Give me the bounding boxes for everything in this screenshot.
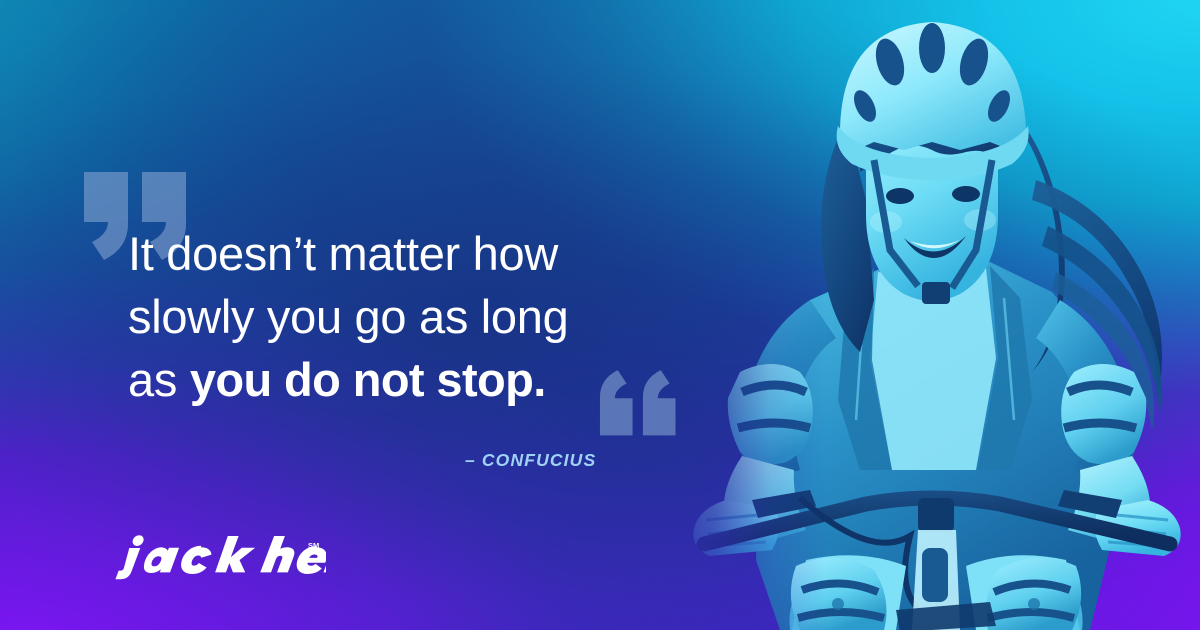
- service-mark-text: SM: [308, 541, 319, 550]
- quote-attribution: – CONFUCIUS: [465, 450, 596, 471]
- quote-text: It doesn’t matter how slowly you go as l…: [128, 222, 728, 411]
- quote-line-2: slowly you go as long: [128, 285, 728, 348]
- quote-line-1: It doesn’t matter how: [128, 222, 728, 285]
- jack-henry-logo[interactable]: SM: [104, 534, 326, 582]
- quote-line-3-text: as: [128, 353, 190, 406]
- quote-line-1-text: It doesn’t matter how: [128, 227, 558, 280]
- quote-line-3: as you do not stop.: [128, 348, 728, 411]
- quote-emphasis: you do not stop.: [190, 353, 546, 406]
- quote-line-2-text: slowly you go as long: [128, 290, 568, 343]
- child-cyclist-photo: [660, 0, 1200, 630]
- quote-card: It doesn’t matter how slowly you go as l…: [0, 0, 1200, 630]
